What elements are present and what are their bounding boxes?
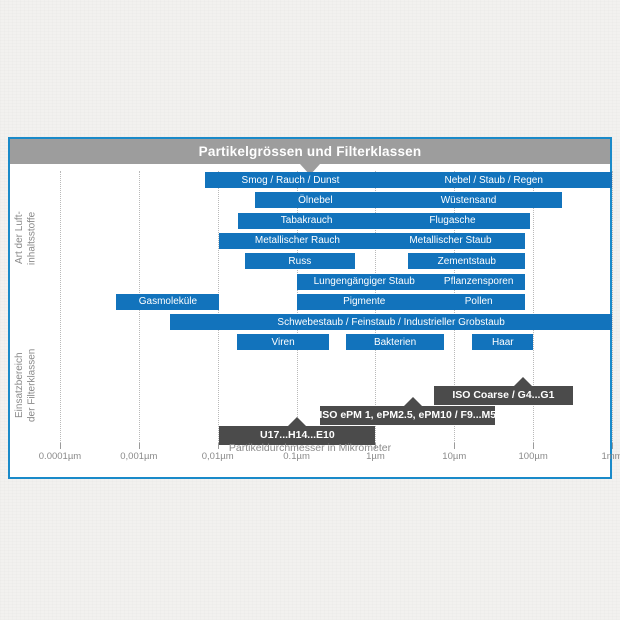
x-axis-title: Partikeldurchmesser in Mikrometer	[10, 442, 610, 454]
particle-range-bar: Metallischer Rauch	[219, 233, 375, 249]
particle-range-bar: Nebel / Staub / Regen	[375, 172, 612, 188]
gridline	[60, 171, 61, 443]
particle-range-bar: Pollen	[432, 294, 526, 310]
particle-range-bar: Tabakrauch	[238, 213, 376, 229]
particle-range-bar: Pigmente	[297, 294, 432, 310]
particle-range-bar: Metallischer Staub	[375, 233, 525, 249]
particle-range-bar: Haar	[472, 334, 533, 350]
particle-range-bar: Smog / Rauch / Dunst	[205, 172, 375, 188]
particle-range-bar: Flugasche	[375, 213, 529, 229]
particle-range-bar: Lungengängiger Staub	[297, 274, 432, 290]
panel-title-bar: Partikelgrössen und Filterklassen	[10, 139, 610, 164]
filter-class-callout: ISO Coarse / G4...G1	[434, 386, 573, 405]
side-label-air-contents: Art der Luft- inhaltsstoffe	[14, 188, 39, 288]
axis-tick	[612, 443, 613, 449]
callout-pointer-icon	[404, 397, 422, 406]
particle-range-bar: Gasmoleküle	[116, 294, 219, 310]
particle-range-bar: Bakterien	[346, 334, 445, 350]
particle-range-bar: Russ	[245, 253, 355, 269]
callout-pointer-icon	[514, 377, 532, 386]
particle-range-bar: Ölnebel	[255, 192, 375, 208]
particle-range-bar: Viren	[237, 334, 329, 350]
side-label-filter-classes: Einsatzbereich der Filterklassen	[14, 330, 39, 440]
callout-pointer-icon	[288, 417, 306, 426]
gridline	[612, 171, 613, 443]
particle-range-bar: Pflanzensporen	[432, 274, 526, 290]
infographic-panel: Partikelgrössen und Filterklassen 0.0001…	[8, 137, 612, 479]
chart-plot-area: 0.0001µm0,001µm0,01µm0.1µm1µm10µm100µm1m…	[10, 164, 610, 479]
particle-range-bar: Zementstaub	[408, 253, 525, 269]
particle-range-bar: Wüstensand	[375, 192, 561, 208]
particle-range-bar: Schwebestaub / Feinstaub / Industrieller…	[170, 314, 612, 330]
page-title: Partikelgrössen und Filterklassen	[199, 144, 422, 159]
filter-class-callout: ISO ePM 1, ePM2.5, ePM10 / F9...M5	[320, 406, 495, 425]
